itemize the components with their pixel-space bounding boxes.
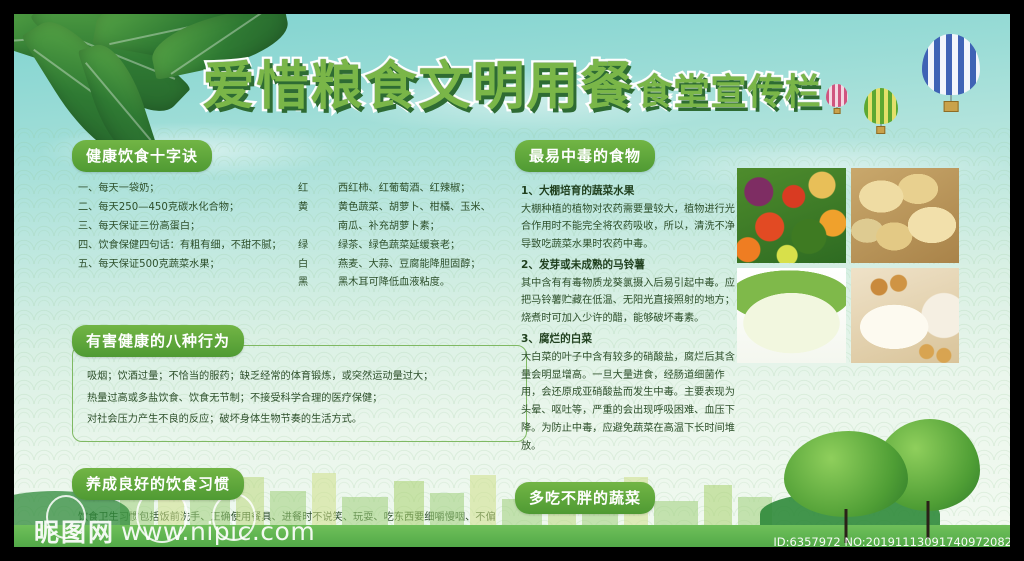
veg-name: 黄 瓜 xyxy=(521,522,567,542)
color-key xyxy=(298,218,338,237)
color-key: 红 xyxy=(298,180,338,199)
item-body: 大白菜的叶子中含有较多的硝酸盐，腐烂后其含量会明显增高。一旦大量进食，经肠道细菌… xyxy=(521,349,736,456)
frame-bottom xyxy=(0,547,1024,561)
color-key: 白 xyxy=(298,256,338,275)
two-column-layout: 一、每天一袋奶； 二、每天250—450克碳水化合物； 三、每天保证三份高蛋白；… xyxy=(78,180,513,293)
potatoes-photo xyxy=(851,168,960,263)
section-harmful-behaviors: 有害健康的八种行为 吸烟；饮酒过量；不恰当的服药；缺乏经常的体育锻炼，或突然运动… xyxy=(72,325,527,441)
paragraph: 热量过高或多盐饮食、饮食无节制；不接受科学合理的医疗保健； xyxy=(87,388,512,409)
title-sub-text: 食堂宣传栏 xyxy=(637,63,822,115)
section-heading: 健康饮食十字诀 xyxy=(72,140,212,172)
color-key: 绿 xyxy=(298,237,338,256)
photo-grid xyxy=(737,168,959,363)
item-body: 大棚种植的植物对农药需要量较大，植物进行光合作用时不能完全将农药吸收，所以，清洗… xyxy=(521,201,736,255)
color-value: 绿茶、绿色蔬菜延缓衰老； xyxy=(338,237,513,256)
list-item: 四、饮食保健四句话：有粗有细，不甜不腻； xyxy=(78,237,288,256)
mixed-vegetables-photo xyxy=(737,168,846,263)
tree-trunk xyxy=(927,501,930,539)
list-item: 绿绿茶、绿色蔬菜延缓衰老； xyxy=(298,237,513,256)
foreground-tree xyxy=(784,431,908,543)
item-heading: 1、大棚培育的蔬菜水果 xyxy=(521,182,736,201)
left-column: 健康饮食十字诀 一、每天一袋奶； 二、每天250—450克碳水化合物； 三、每天… xyxy=(72,140,527,561)
list-item: 一、每天一袋奶； xyxy=(78,180,288,199)
section-heading: 最易中毒的食物 xyxy=(515,140,655,172)
chinese-cabbage-photo xyxy=(737,268,846,363)
list-item: 三、每天保证三份高蛋白； xyxy=(78,218,288,237)
tree-crown xyxy=(784,431,908,517)
frame-top xyxy=(0,0,1024,14)
list-item: 红西红柿、红葡萄酒、红辣椒； xyxy=(298,180,513,199)
watermark-cn-text: 昵图网 xyxy=(34,513,115,549)
watermark-url-text: www.nipic.com xyxy=(121,517,315,546)
poster-title: 爱惜粮食文明用餐食堂宣传栏 xyxy=(0,44,1024,119)
color-value: 燕麦、大蒜、豆腐能降胆固醇； xyxy=(338,256,513,275)
list-item: 二、每天250—450克碳水化合物； xyxy=(78,199,288,218)
list-item: 黄黄色蔬菜、胡萝卜、柑橘、玉米、 xyxy=(298,199,513,218)
balloon-basket xyxy=(876,126,885,134)
color-key: 黑 xyxy=(298,274,338,293)
item-heading: 2、发芽或未成熟的马铃薯 xyxy=(521,256,736,275)
color-value: 南瓜、补充胡萝卜素； xyxy=(338,218,513,237)
color-key: 黄 xyxy=(298,199,338,218)
section-heading: 多吃不胖的蔬菜 xyxy=(515,482,655,514)
section-heading: 养成良好的饮食习惯 xyxy=(72,468,244,500)
numbered-list: 一、每天一袋奶； 二、每天250—450克碳水化合物； 三、每天保证三份高蛋白；… xyxy=(78,180,288,293)
poster-root: 爱惜粮食文明用餐食堂宣传栏 健康饮食十字诀 一、每天一袋奶； 二、每天250—4… xyxy=(0,0,1024,561)
color-value: 黑木耳可降低血液粘度。 xyxy=(338,274,513,293)
section-heading: 有害健康的八种行为 xyxy=(72,325,244,357)
paragraph: 对社会压力产生不良的反应；破坏身体生物节奏的生活方式。 xyxy=(87,409,512,430)
item-heading: 3、腐烂的白菜 xyxy=(521,330,736,349)
frame-right xyxy=(1010,0,1024,561)
list-item: 白燕麦、大蒜、豆腐能降胆固醇； xyxy=(298,256,513,275)
color-value: 西红柿、红葡萄酒、红辣椒； xyxy=(338,180,513,199)
watermark: 昵图网 www.nipic.com xyxy=(34,513,315,549)
color-food-list: 红西红柿、红葡萄酒、红辣椒； 黄黄色蔬菜、胡萝卜、柑橘、玉米、 南瓜、补充胡萝卜… xyxy=(298,180,513,293)
section-body: 1、大棚培育的蔬菜水果 大棚种植的植物对农药需要量较大，植物进行光合作用时不能完… xyxy=(515,160,750,466)
list-item: 五、每天保证500克蔬菜水果； xyxy=(78,256,288,275)
section-body: 吸烟；饮酒过量；不恰当的服药；缺乏经常的体育锻炼，或突然运动量过大； 热量过高或… xyxy=(72,345,527,441)
list-item: 黑黑木耳可降低血液粘度。 xyxy=(298,274,513,293)
soy-milk-photo xyxy=(851,268,960,363)
section-body: 一、每天一袋奶； 二、每天250—450克碳水化合物； 三、每天保证三份高蛋白；… xyxy=(72,160,527,303)
paragraph: 吸烟；饮酒过量；不恰当的服药；缺乏经常的体育锻炼，或突然运动量过大； xyxy=(87,366,512,387)
item-body: 其中含有有毒物质龙葵氯摄入后易引起中毒。应把马铃薯贮藏在低温、无阳光直接照射的地… xyxy=(521,275,736,329)
list-item: 南瓜、补充胡萝卜素； xyxy=(298,218,513,237)
frame-left xyxy=(0,0,14,561)
color-value: 黄色蔬菜、胡萝卜、柑橘、玉米、 xyxy=(338,199,513,218)
title-main-text: 爱惜粮食文明用餐 xyxy=(202,44,634,119)
section-healthy-diet: 健康饮食十字诀 一、每天一袋奶； 二、每天250—450克碳水化合物； 三、每天… xyxy=(72,140,527,303)
